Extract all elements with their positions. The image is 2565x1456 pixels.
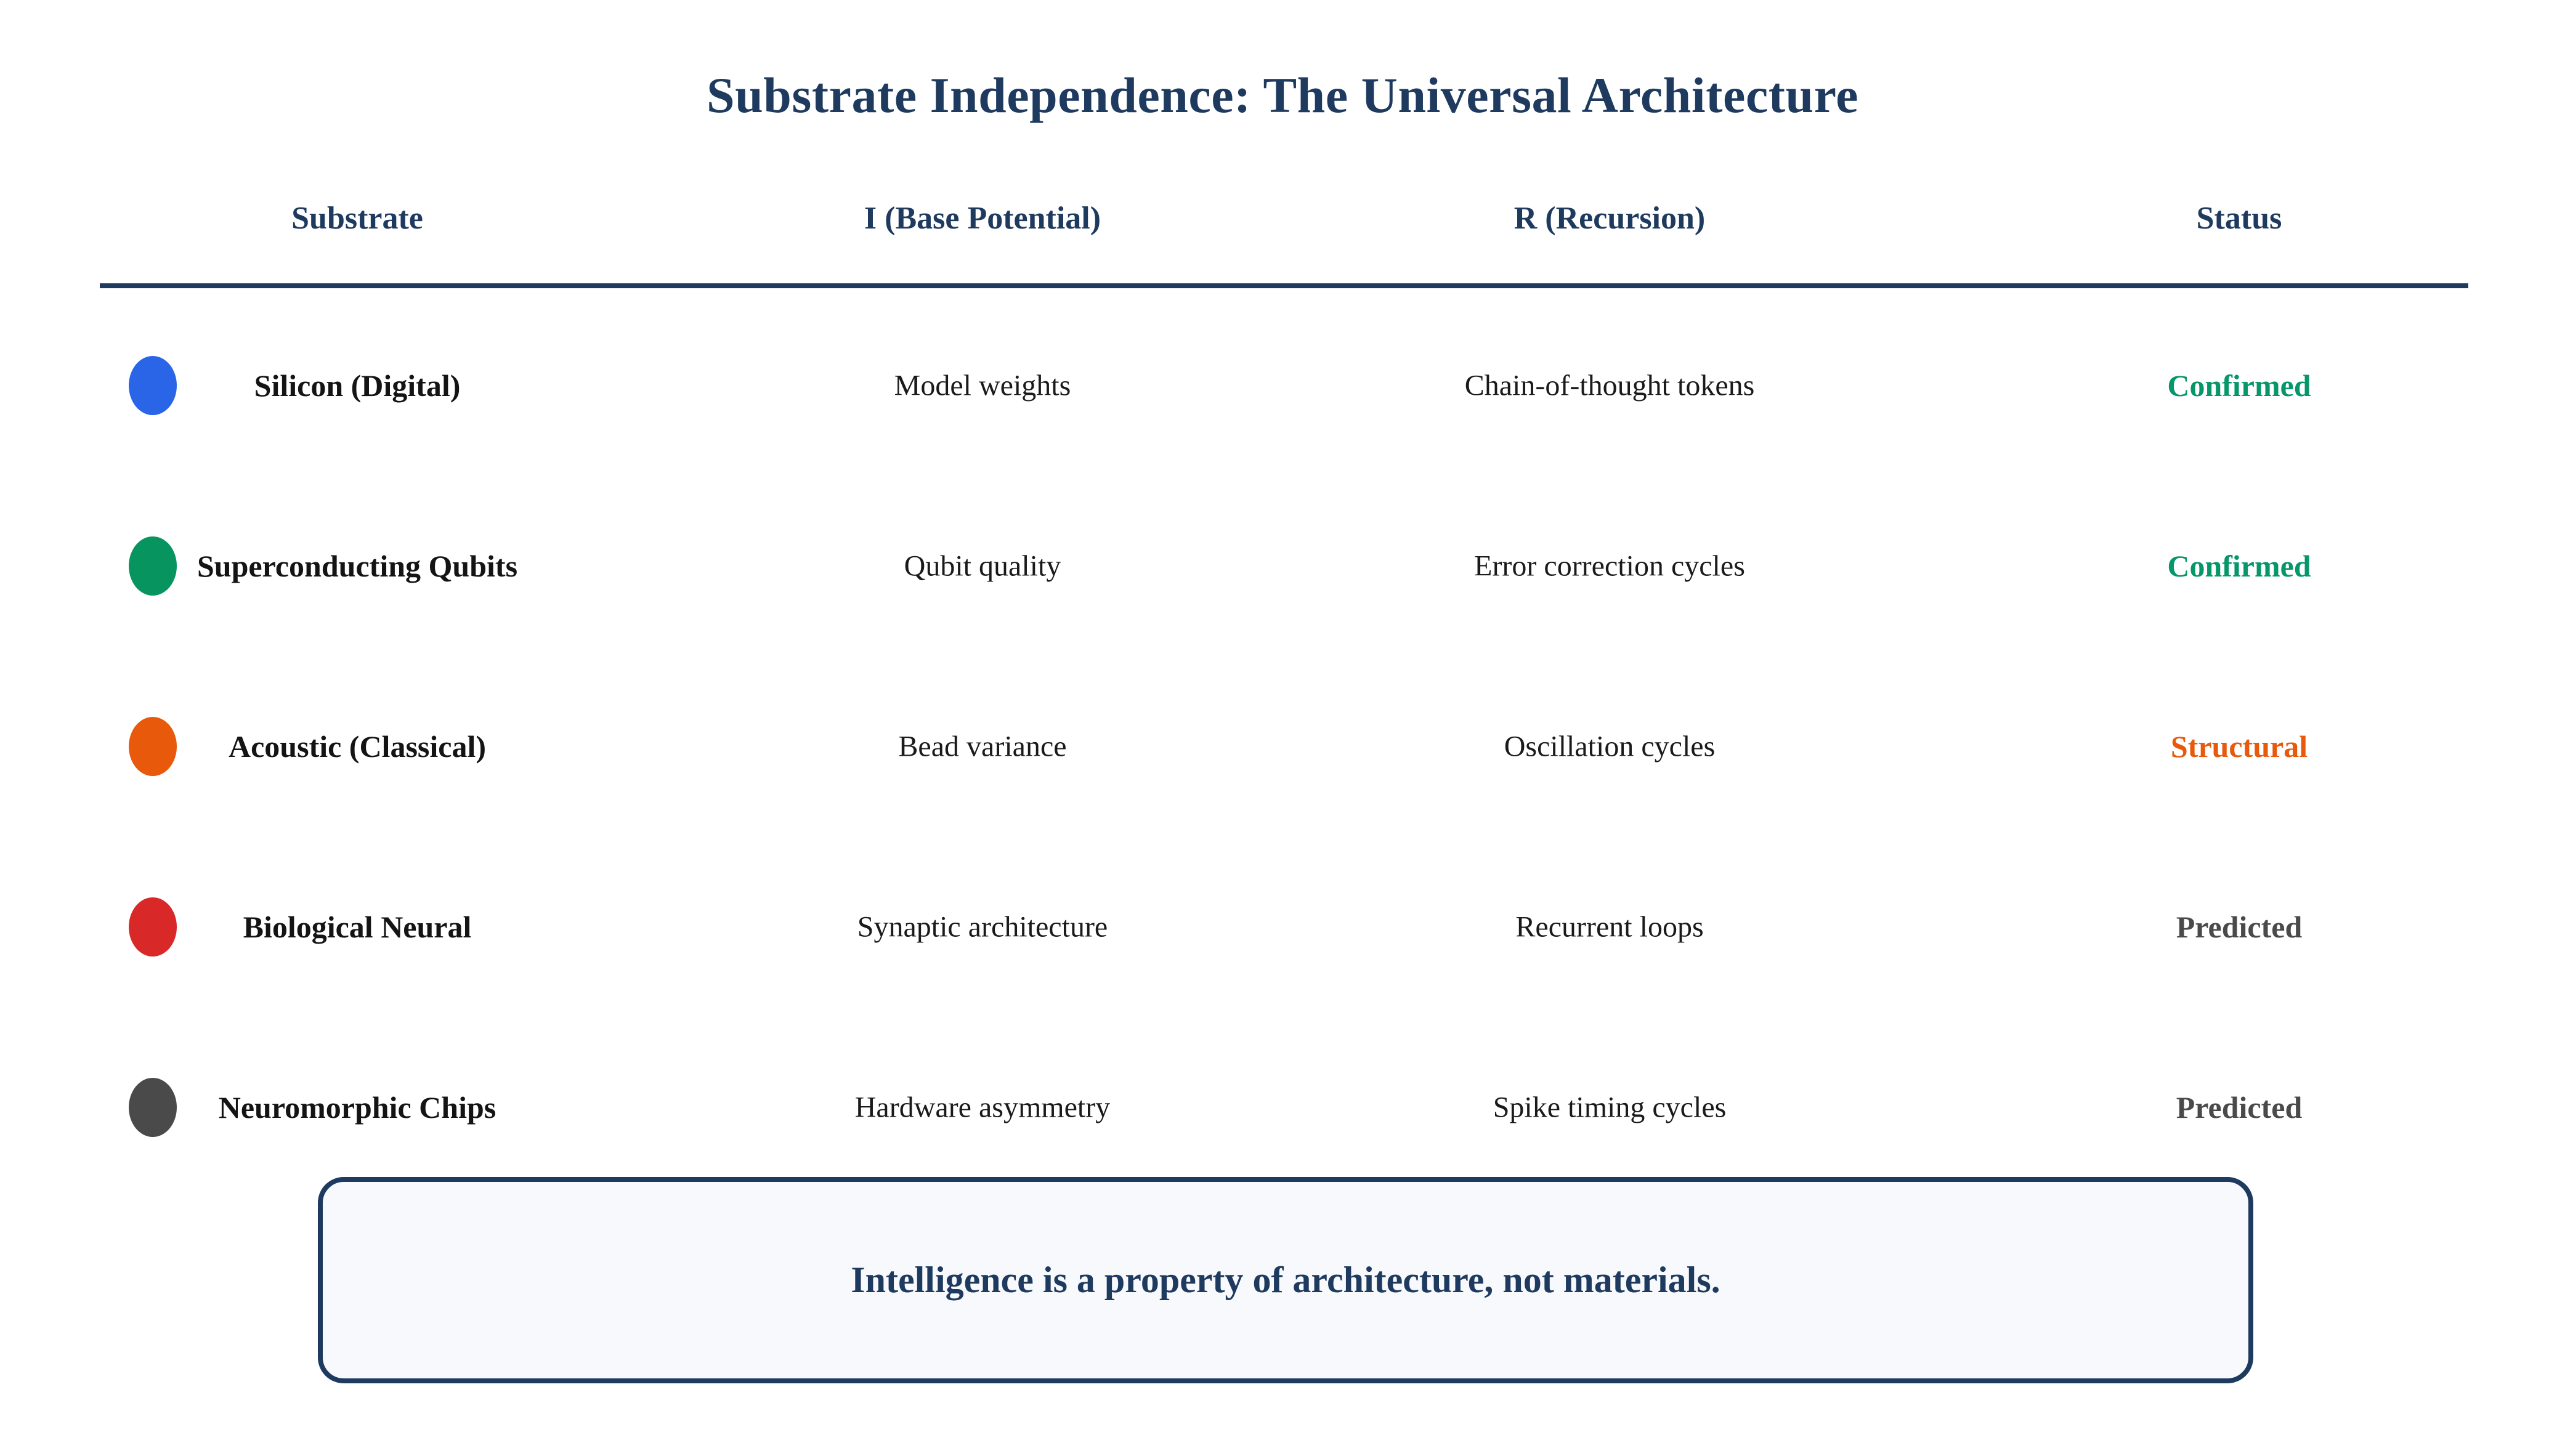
page-title: Substrate Independence: The Universal Ar… — [0, 67, 2565, 124]
column-header-3: Status — [2197, 200, 2282, 237]
callout-text: Intelligence is a property of architectu… — [851, 1259, 1720, 1301]
cell-recursion: Chain-of-thought tokens — [1465, 369, 1755, 403]
cell-substrate: Acoustic (Classical) — [229, 729, 486, 764]
status-badge: Confirmed — [2167, 368, 2311, 403]
column-header-1: I (Base Potential) — [864, 200, 1101, 237]
substrate-marker-icon — [129, 536, 177, 596]
header-divider — [100, 283, 2468, 288]
status-badge: Structural — [2171, 729, 2308, 764]
cell-base-potential: Qubit quality — [904, 549, 1061, 583]
figure-canvas: Substrate Independence: The Universal Ar… — [0, 0, 2565, 1456]
substrate-marker-icon — [129, 717, 177, 776]
substrate-marker-icon — [129, 1078, 177, 1137]
cell-base-potential: Hardware asymmetry — [855, 1091, 1111, 1125]
cell-recursion: Spike timing cycles — [1493, 1091, 1727, 1125]
cell-recursion: Recurrent loops — [1515, 910, 1703, 944]
column-header-0: Substrate — [291, 200, 423, 237]
cell-base-potential: Synaptic architecture — [857, 910, 1108, 944]
cell-recursion: Oscillation cycles — [1504, 730, 1716, 764]
status-badge: Predicted — [2176, 1090, 2303, 1125]
status-badge: Predicted — [2176, 909, 2303, 945]
status-badge: Confirmed — [2167, 548, 2311, 584]
cell-base-potential: Model weights — [894, 369, 1071, 403]
cell-substrate: Biological Neural — [243, 909, 472, 945]
substrate-marker-icon — [129, 897, 177, 957]
cell-substrate: Neuromorphic Chips — [219, 1090, 496, 1125]
cell-substrate: Superconducting Qubits — [197, 548, 517, 584]
cell-base-potential: Bead variance — [898, 730, 1066, 764]
cell-substrate: Silicon (Digital) — [254, 368, 461, 403]
cell-recursion: Error correction cycles — [1474, 549, 1745, 583]
callout-box: Intelligence is a property of architectu… — [318, 1177, 2253, 1383]
column-header-2: R (Recursion) — [1514, 200, 1706, 237]
substrate-marker-icon — [129, 356, 177, 415]
